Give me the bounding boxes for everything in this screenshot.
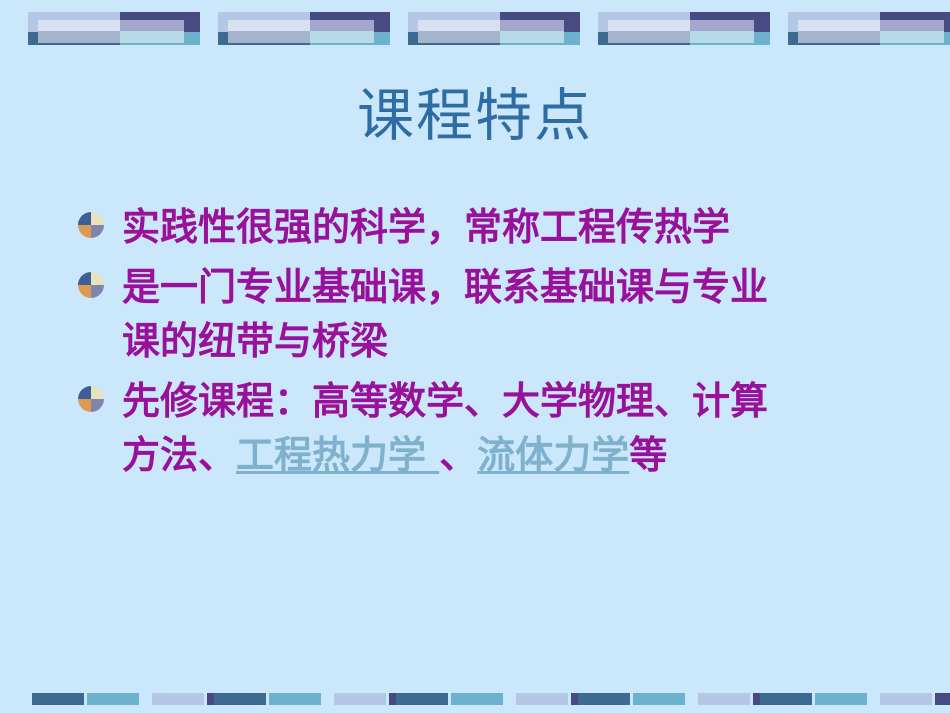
top-decorative-band: [0, 0, 950, 60]
bullet-item: 实践性很强的科学，常称工程传热学: [72, 200, 912, 254]
top-decor-block: [218, 12, 390, 45]
bottom-decor-segment: [815, 693, 867, 705]
bullet-quadrant: [91, 399, 104, 412]
bullet-quadrant: [91, 386, 104, 399]
bullet-quadrant: [78, 272, 91, 285]
hyperlink[interactable]: 工程热力学: [236, 432, 439, 477]
bullet-quadrant: [91, 285, 104, 298]
bullet-line: 是一门专业基础课，联系基础课与专业: [122, 260, 912, 314]
bottom-decor-segment: [152, 693, 204, 705]
bottom-decor-segment: [334, 693, 386, 705]
quadrant-circle-bullet-icon: [78, 212, 104, 238]
bottom-decor-segment: [516, 693, 568, 705]
presentation-slide: 课程特点 实践性很强的科学，常称工程传热学是一门专业基础课，联系基础课与专业课的…: [0, 0, 950, 713]
bottom-decor-segment: [760, 693, 812, 705]
bullet-quadrant: [78, 212, 91, 225]
text-fragment: 课的纽带与桥梁: [122, 318, 388, 363]
top-decor-block: [788, 12, 950, 45]
bullet-quadrant: [78, 285, 91, 298]
text-fragment: 、: [439, 432, 477, 477]
bullet-text: 实践性很强的科学，常称工程传热学: [122, 200, 912, 254]
bottom-decor-segment: [214, 693, 266, 705]
decor-slab: [880, 31, 944, 43]
bottom-decor-segment: [935, 693, 950, 705]
hyperlink[interactable]: 流体力学: [477, 432, 629, 477]
text-fragment: 实践性很强的科学，常称工程传热学: [122, 204, 730, 249]
decor-slab: [690, 20, 754, 31]
bullet-line: 方法、工程热力学 、流体力学等: [122, 428, 912, 482]
text-fragment: 等: [629, 432, 667, 477]
bottom-decor-segment: [880, 693, 932, 705]
quadrant-circle-bullet-icon: [78, 272, 104, 298]
decor-slab: [310, 31, 374, 43]
bullet-quadrant: [78, 225, 91, 238]
bottom-decor-segment: [698, 693, 750, 705]
top-decor-block: [28, 12, 200, 45]
bullet-item: 是一门专业基础课，联系基础课与专业课的纽带与桥梁: [72, 260, 912, 368]
bullet-line: 实践性很强的科学，常称工程传热学: [122, 200, 912, 254]
bullet-text: 先修课程：高等数学、大学物理、计算方法、工程热力学 、流体力学等: [122, 374, 912, 482]
bullet-quadrant: [78, 399, 91, 412]
decor-slab: [690, 31, 754, 43]
text-fragment: 是一门专业基础课，联系基础课与专业: [122, 264, 768, 309]
bottom-decor-segment: [87, 693, 139, 705]
bottom-decorative-band: [0, 683, 950, 713]
slide-title: 课程特点: [0, 82, 950, 150]
bullet-line: 课的纽带与桥梁: [122, 314, 912, 368]
bottom-decor-segment: [269, 693, 321, 705]
bullet-quadrant: [91, 225, 104, 238]
decor-slab: [500, 31, 564, 43]
bullet-quadrant: [91, 212, 104, 225]
top-decor-block: [598, 12, 770, 45]
top-decor-block: [408, 12, 580, 45]
bullet-text: 是一门专业基础课，联系基础课与专业课的纽带与桥梁: [122, 260, 912, 368]
bullet-item: 先修课程：高等数学、大学物理、计算方法、工程热力学 、流体力学等: [72, 374, 912, 482]
bottom-decor-segment: [396, 693, 448, 705]
bullet-quadrant: [78, 386, 91, 399]
slide-body-content: 实践性很强的科学，常称工程传热学是一门专业基础课，联系基础课与专业课的纽带与桥梁…: [72, 200, 912, 488]
text-fragment: 方法、: [122, 432, 236, 477]
quadrant-circle-bullet-icon: [78, 386, 104, 412]
bullet-quadrant: [91, 272, 104, 285]
bullet-line: 先修课程：高等数学、大学物理、计算: [122, 374, 912, 428]
bottom-decor-segment: [451, 693, 503, 705]
decor-slab: [120, 31, 184, 43]
decor-slab: [880, 20, 944, 31]
bottom-decor-segment: [32, 693, 84, 705]
bottom-decor-segment: [578, 693, 630, 705]
decor-slab: [310, 20, 374, 31]
decor-slab: [500, 20, 564, 31]
bottom-decor-segment: [633, 693, 685, 705]
decor-slab: [120, 20, 184, 31]
text-fragment: 先修课程：高等数学、大学物理、计算: [122, 378, 768, 423]
